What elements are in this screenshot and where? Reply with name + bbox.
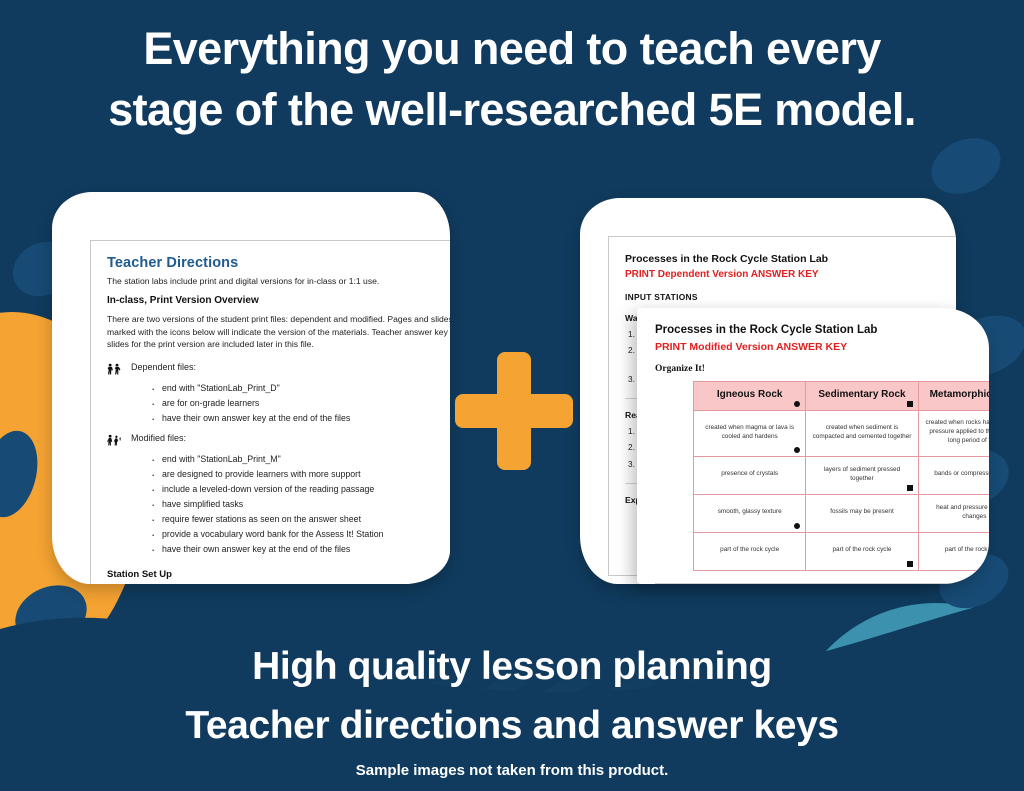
- table-cell: layers of sediment pressed together: [806, 457, 918, 495]
- adult-and-child-icon: [107, 434, 122, 447]
- table-cell: part of the rock cycle: [918, 533, 989, 571]
- table-row: smooth, glassy texture fossils may be pr…: [694, 495, 990, 533]
- plus-icon: [455, 352, 573, 470]
- column-header-sedimentary: Sedimentary Rock: [806, 382, 918, 411]
- square-marker-icon: [907, 485, 913, 491]
- dependent-files-list: end with "StationLab_Print_D" are for on…: [151, 381, 450, 426]
- table-cell: heat and pressure produce changes: [918, 495, 989, 533]
- column-header-metamorphic: Metamorphic Rock: [918, 382, 989, 411]
- page-title: Processes in the Rock Cycle Station Lab: [655, 324, 989, 336]
- list-item: have their own answer key at the end of …: [151, 411, 450, 426]
- page-title: Teacher Directions: [107, 255, 450, 271]
- table-cell: bands or compressed layers: [918, 457, 989, 495]
- table-row: created when magma or lava is cooled and…: [694, 411, 990, 457]
- group-label: Modified files:: [131, 433, 186, 443]
- table-cell: fossils may be present: [806, 495, 918, 533]
- table-cell: created when rocks have heat and pressur…: [918, 411, 989, 457]
- circle-marker-icon: [794, 523, 800, 529]
- square-marker-icon: [907, 561, 913, 567]
- section-heading: INPUT STATIONS: [625, 292, 943, 302]
- list-item: have their own answer key at the end of …: [151, 542, 450, 557]
- footer-headline: High quality lesson planning Teacher dir…: [0, 637, 1024, 756]
- table-cell: presence of crystals: [694, 457, 806, 495]
- list-item: have simplified tasks: [151, 497, 450, 512]
- two-people-running-icon: [107, 363, 122, 376]
- list-item: provide a vocabulary word bank for the A…: [151, 527, 450, 542]
- table-row: presence of crystals layers of sediment …: [694, 457, 990, 495]
- group-label: Dependent files:: [131, 362, 196, 372]
- footer-line-2: Teacher directions and answer keys: [0, 696, 1024, 755]
- station-setup-heading: Station Set Up: [107, 569, 450, 580]
- circle-marker-icon: [794, 401, 800, 407]
- list-item: end with "StationLab_Print_M": [151, 452, 450, 467]
- page-title: Processes in the Rock Cycle Station Lab: [625, 253, 943, 265]
- list-item: are designed to provide learners with mo…: [151, 467, 450, 482]
- column-header-igneous: Igneous Rock: [694, 382, 806, 411]
- modified-files-group: Modified files: end with "StationLab_Pri…: [107, 433, 450, 558]
- list-item: require fewer stations as seen on the an…: [151, 512, 450, 527]
- table-cell: smooth, glassy texture: [694, 495, 806, 533]
- footer-line-1: High quality lesson planning: [0, 637, 1024, 696]
- teacher-directions-card: Teacher Directions The station labs incl…: [52, 192, 450, 584]
- table-cell: part of the rock cycle: [806, 533, 918, 571]
- modified-files-list: end with "StationLab_Print_M" are design…: [151, 452, 450, 558]
- circle-marker-icon: [794, 447, 800, 453]
- table-header-row: Igneous Rock Sedimentary Rock Metamorphi…: [694, 382, 990, 411]
- table-cell: created when magma or lava is cooled and…: [694, 411, 806, 457]
- illustrate-it-section: Illustrate It! Student sketches should: [655, 583, 989, 584]
- section-subheading: In-class, Print Version Overview: [107, 295, 450, 306]
- table-row: part of the rock cycle part of the rock …: [694, 533, 990, 571]
- rock-types-table: Igneous Rock Sedimentary Rock Metamorphi…: [693, 381, 989, 571]
- version-line: PRINT Modified Version ANSWER KEY: [655, 341, 989, 353]
- headline: Everything you need to teach every stage…: [0, 18, 1024, 140]
- dependent-files-group: Dependent files: end with "StationLab_Pr…: [107, 362, 450, 426]
- list-item: end with "StationLab_Print_D": [151, 381, 450, 396]
- headline-line-2: stage of the well-researched 5E model.: [34, 79, 990, 140]
- table-cell: part of the rock cycle: [694, 533, 806, 571]
- version-line: PRINT Dependent Version ANSWER KEY: [625, 269, 943, 280]
- modified-answer-key-card: Processes in the Rock Cycle Station Lab …: [637, 308, 989, 584]
- square-marker-icon: [907, 401, 913, 407]
- list-item: are for on-grade learners: [151, 396, 450, 411]
- headline-line-1: Everything you need to teach every: [34, 18, 990, 79]
- organize-it-label: Organize It!: [655, 364, 989, 374]
- teacher-directions-page: Teacher Directions The station labs incl…: [90, 240, 450, 584]
- list-item: include a leveled-down version of the re…: [151, 482, 450, 497]
- overview-paragraph: There are two versions of the student pr…: [107, 313, 450, 351]
- lead-text: The station labs include print and digit…: [107, 276, 450, 286]
- table-cell: created when sediment is compacted and c…: [806, 411, 918, 457]
- disclaimer-text: Sample images not taken from this produc…: [0, 762, 1024, 779]
